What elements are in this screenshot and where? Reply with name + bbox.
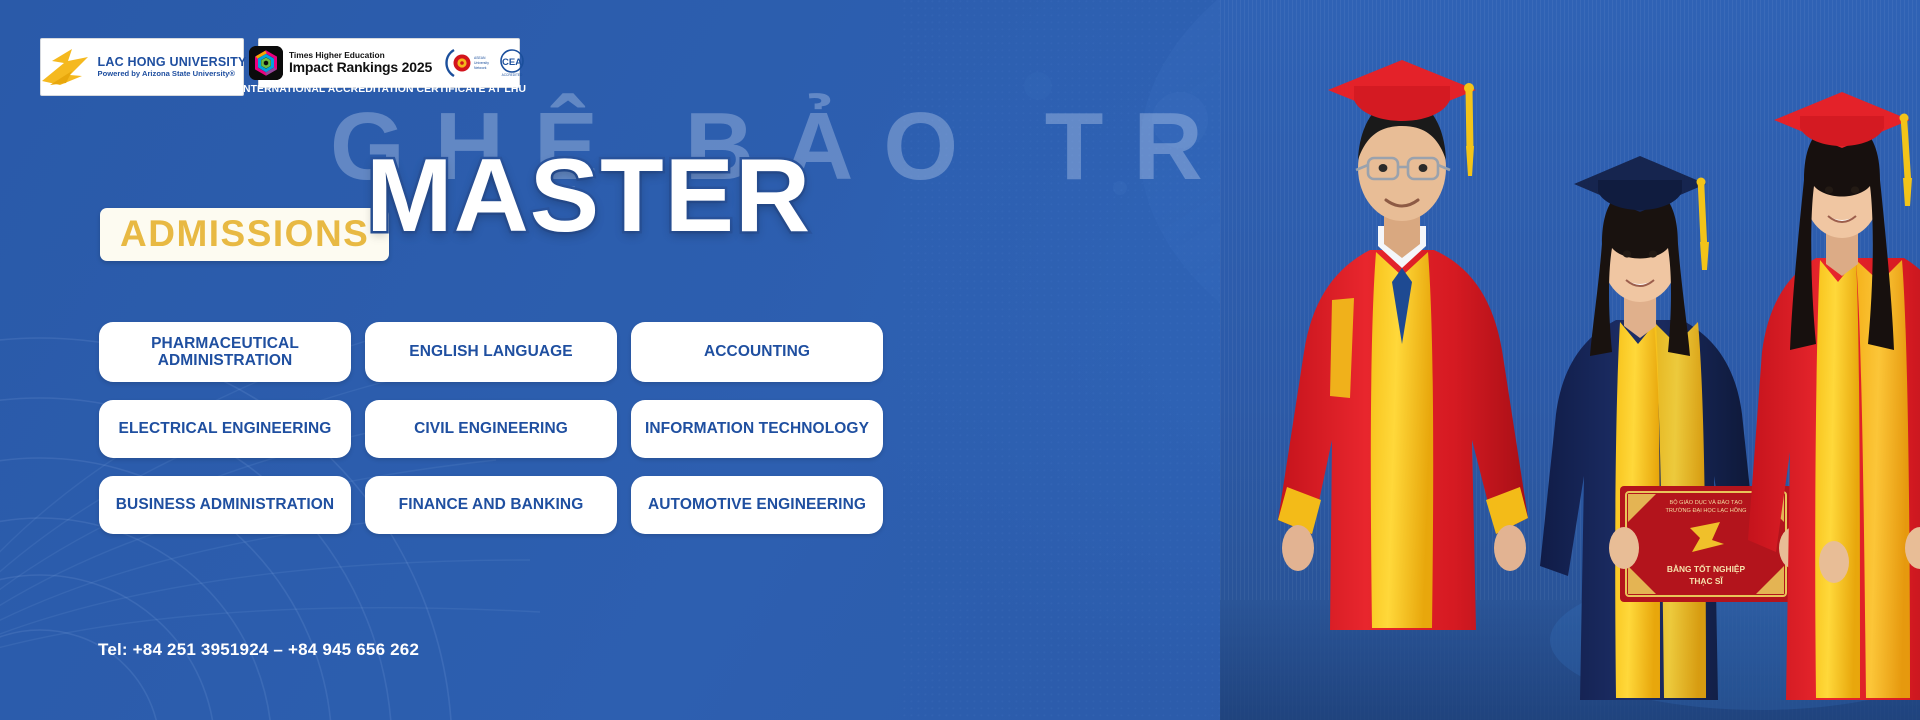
svg-text:ASEAN: ASEAN bbox=[474, 56, 486, 60]
svg-text:BỘ GIÁO DỤC VÀ ĐÀO TẠO: BỘ GIÁO DỤC VÀ ĐÀO TẠO bbox=[1670, 499, 1744, 506]
program-pill-accounting[interactable]: ACCOUNTING bbox=[631, 322, 883, 382]
admissions-label: ADMISSIONS bbox=[120, 215, 369, 252]
cea-accreditation-logo-icon: CEA ACCREDITED bbox=[495, 48, 529, 78]
program-label: FINANCE AND BANKING bbox=[399, 496, 584, 513]
accreditation-marks: ASEAN University Network CEA ACCREDITED bbox=[440, 48, 529, 78]
admissions-banner: GHỆ BẢO TRÌNH bbox=[0, 0, 1920, 720]
program-pill-automotive-engineering[interactable]: AUTOMOTIVE ENGINEERING bbox=[631, 476, 883, 534]
svg-text:BẰNG TỐT NGHIỆP: BẰNG TỐT NGHIỆP bbox=[1667, 563, 1746, 574]
program-pill-civil-engineering[interactable]: CIVIL ENGINEERING bbox=[365, 400, 617, 458]
bird-mark-svg bbox=[38, 45, 94, 89]
admissions-badge: ADMISSIONS bbox=[100, 208, 389, 261]
program-label: ENGLISH LANGUAGE bbox=[409, 343, 573, 360]
university-name: LAC HONG UNIVERSITY bbox=[98, 56, 247, 69]
lac-hong-bird-logo-icon bbox=[38, 45, 94, 89]
lac-hong-university-text: LAC HONG UNIVERSITY Powered by Arizona S… bbox=[98, 56, 247, 77]
program-pill-electrical-engineering[interactable]: ELECTRICAL ENGINEERING bbox=[99, 400, 351, 458]
program-label: PHARMACEUTICAL ADMINISTRATION bbox=[109, 335, 341, 370]
program-pill-finance-and-banking[interactable]: FINANCE AND BANKING bbox=[365, 476, 617, 534]
svg-text:University: University bbox=[474, 61, 489, 65]
cea-svg: CEA ACCREDITED bbox=[495, 48, 529, 78]
headline-block: ADMISSIONS MASTER bbox=[98, 152, 898, 282]
program-label: INFORMATION TECHNOLOGY bbox=[645, 420, 869, 437]
svg-text:TRƯỜNG ĐẠI HỌC LẠC HỒNG: TRƯỜNG ĐẠI HỌC LẠC HỒNG bbox=[1665, 507, 1746, 514]
the-label-line2: Impact Rankings 2025 bbox=[289, 60, 432, 75]
program-label: AUTOMOTIVE ENGINEERING bbox=[648, 496, 866, 513]
accreditation-logo-group: Times Higher Education Impact Rankings 2… bbox=[258, 38, 520, 88]
svg-text:CEA: CEA bbox=[502, 57, 522, 68]
program-grid: PHARMACEUTICAL ADMINISTRATION ENGLISH LA… bbox=[99, 322, 883, 534]
svg-text:Network: Network bbox=[474, 66, 487, 70]
aun-qa-svg: ASEAN University Network bbox=[440, 48, 492, 78]
the-impact-rankings-text: Times Higher Education Impact Rankings 2… bbox=[289, 51, 432, 75]
program-pill-information-technology[interactable]: INFORMATION TECHNOLOGY bbox=[631, 400, 883, 458]
program-label: BUSINESS ADMINISTRATION bbox=[116, 496, 334, 513]
lac-hong-university-logo: LAC HONG UNIVERSITY Powered by Arizona S… bbox=[40, 38, 244, 96]
times-higher-education-logo-icon bbox=[249, 46, 283, 80]
university-tagline: Powered by Arizona State University® bbox=[98, 70, 247, 78]
contact-telephone[interactable]: Tel: +84 251 3951924 – +84 945 656 262 bbox=[98, 640, 419, 660]
graduation-photo: BỘ GIÁO DỤC VÀ ĐÀO TẠO TRƯỜNG ĐẠI HỌC LẠ… bbox=[1220, 0, 1920, 720]
program-label: ACCOUNTING bbox=[704, 343, 810, 360]
the-spiral-svg bbox=[249, 46, 283, 80]
svg-text:THẠC SĨ: THẠC SĨ bbox=[1689, 576, 1723, 586]
asean-university-network-qa-logo-icon: ASEAN University Network bbox=[440, 48, 492, 78]
program-pill-english-language[interactable]: ENGLISH LANGUAGE bbox=[365, 322, 617, 382]
master-title: MASTER bbox=[366, 144, 811, 248]
program-label: CIVIL ENGINEERING bbox=[414, 420, 568, 437]
accreditation-caption: INTERNATIONAL ACCREDITATION CERTIFICATE … bbox=[240, 84, 526, 95]
svg-text:ACCREDITED: ACCREDITED bbox=[502, 73, 523, 77]
program-label: ELECTRICAL ENGINEERING bbox=[119, 420, 332, 437]
program-pill-business-administration[interactable]: BUSINESS ADMINISTRATION bbox=[99, 476, 351, 534]
program-pill-pharmaceutical-administration[interactable]: PHARMACEUTICAL ADMINISTRATION bbox=[99, 322, 351, 382]
graduation-photo-illustration: BỘ GIÁO DỤC VÀ ĐÀO TẠO TRƯỜNG ĐẠI HỌC LẠ… bbox=[1220, 0, 1920, 720]
